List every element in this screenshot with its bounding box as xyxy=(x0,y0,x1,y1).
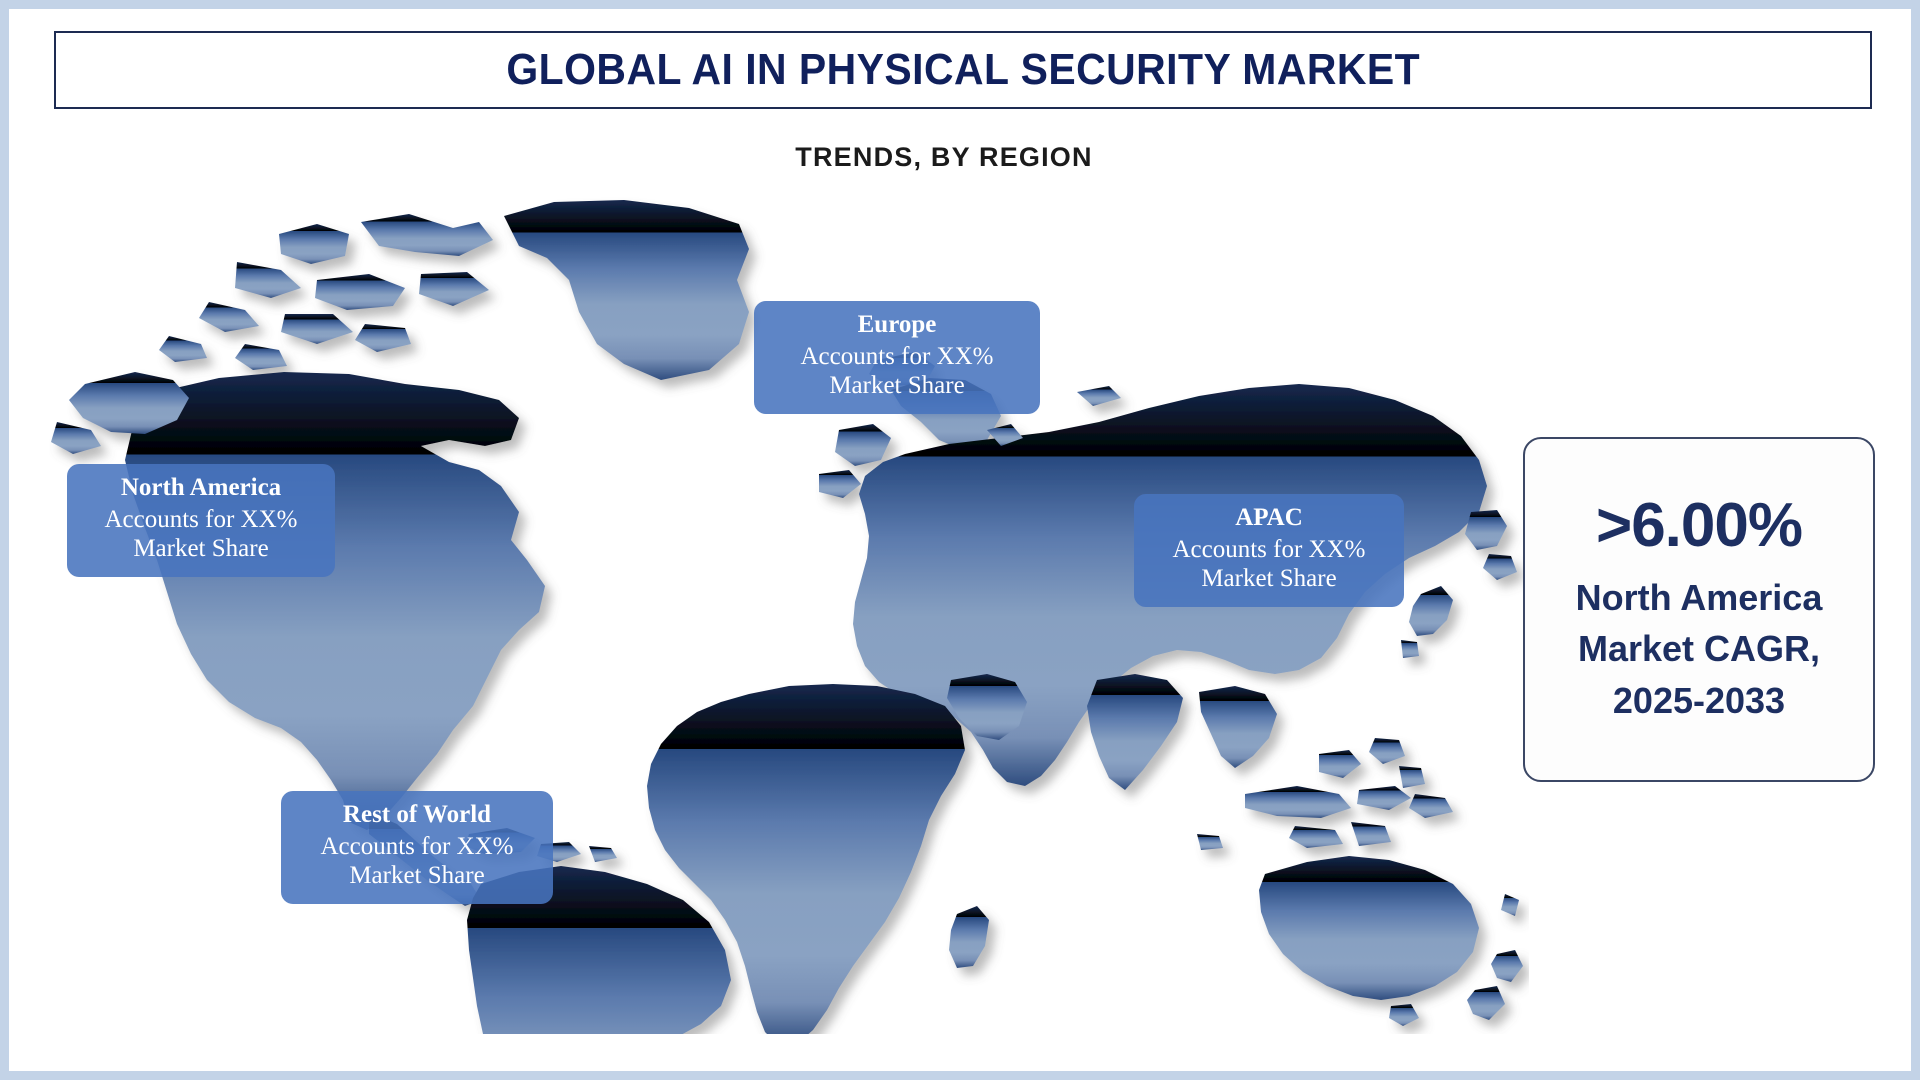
title-box: GLOBAL AI IN PHYSICAL SECURITY MARKET xyxy=(54,31,1872,109)
region-share-line2: Market Share xyxy=(79,534,323,564)
region-share-line1: Accounts for XX% xyxy=(1146,535,1392,565)
cagr-value: >6.00% xyxy=(1596,493,1802,558)
region-share-line2: Market Share xyxy=(766,371,1028,401)
region-name: APAC xyxy=(1146,503,1392,533)
region-callout-rest-of-world[interactable]: Rest of World Accounts for XX% Market Sh… xyxy=(281,791,553,904)
cagr-metric-line: Market CAGR, xyxy=(1578,623,1820,674)
region-name: Rest of World xyxy=(293,800,541,830)
region-name: North America xyxy=(79,473,323,503)
cagr-period-line: 2025-2033 xyxy=(1613,675,1785,726)
region-callout-north-america[interactable]: North America Accounts for XX% Market Sh… xyxy=(67,464,335,577)
region-share-line1: Accounts for XX% xyxy=(293,832,541,862)
region-callout-apac[interactable]: APAC Accounts for XX% Market Share xyxy=(1134,494,1404,607)
page-subtitle: TRENDS, BY REGION xyxy=(9,142,1879,173)
region-share-line2: Market Share xyxy=(1146,564,1392,594)
page-title: GLOBAL AI IN PHYSICAL SECURITY MARKET xyxy=(506,45,1420,95)
infographic-canvas: GLOBAL AI IN PHYSICAL SECURITY MARKET TR… xyxy=(0,0,1920,1080)
cagr-highlight-card: >6.00% North America Market CAGR, 2025-2… xyxy=(1523,437,1875,782)
region-callout-europe[interactable]: Europe Accounts for XX% Market Share xyxy=(754,301,1040,414)
region-name: Europe xyxy=(766,310,1028,340)
region-share-line1: Accounts for XX% xyxy=(79,505,323,535)
region-share-line2: Market Share xyxy=(293,861,541,891)
cagr-region-line: North America xyxy=(1576,572,1823,623)
region-share-line1: Accounts for XX% xyxy=(766,342,1028,372)
